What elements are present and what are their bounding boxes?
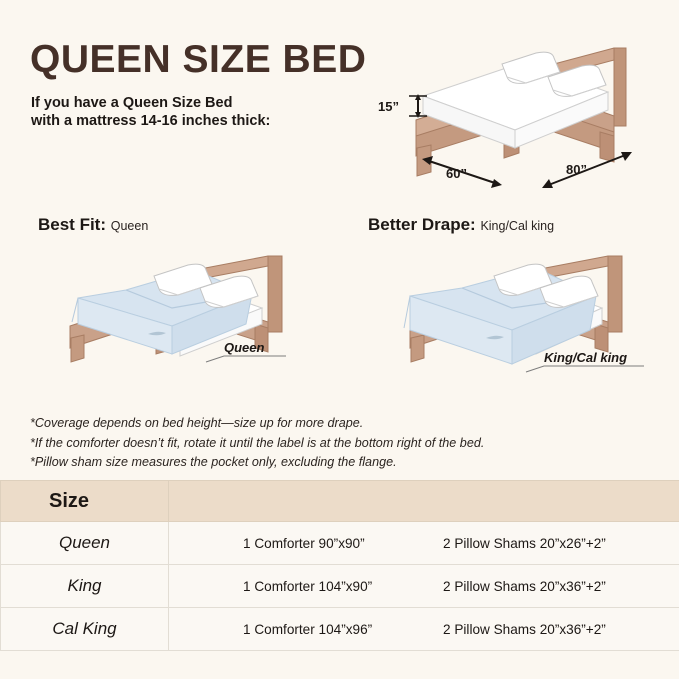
table-body: Queen 1 Comforter 90”x90” 2 Pillow Shams…: [1, 522, 679, 651]
bed-width-label: 60”: [446, 166, 467, 181]
size-table: Size Queen 1 Comforter 90”x90” 2 Pillow …: [0, 480, 679, 651]
best-fit-bed-illustration: Queen: [56, 246, 346, 403]
shams-spec: 2 Pillow Shams 20”x36”+2”: [443, 579, 606, 594]
table-header-row: Size: [1, 481, 679, 522]
comforter-spec: 1 Comforter 104”x90”: [243, 579, 443, 594]
bed-height-label: 15”: [378, 99, 399, 114]
footnote-3: *Pillow sham size measures the pocket on…: [30, 453, 640, 473]
better-drape-bed-illustration: King/Cal king: [396, 246, 674, 403]
better-drape-heading: Better Drape: King/Cal king: [368, 215, 554, 235]
table-header-size: Size: [1, 481, 169, 522]
table-row: Queen 1 Comforter 90”x90” 2 Pillow Shams…: [1, 522, 679, 565]
better-drape-bed-label: King/Cal king: [544, 350, 627, 365]
row-size-king: King: [1, 565, 169, 608]
row-size-cal-king: Cal King: [1, 608, 169, 651]
row-spec-queen: 1 Comforter 90”x90” 2 Pillow Shams 20”x2…: [169, 522, 679, 565]
footnote-2: *If the comforter doesn’t fit, rotate it…: [30, 434, 640, 454]
better-drape-label: Better Drape:: [368, 215, 476, 234]
footnote-1: *Coverage depends on bed height—size up …: [30, 414, 640, 434]
infographic-page: QUEEN SIZE BED If you have a Queen Size …: [0, 0, 679, 679]
page-title: QUEEN SIZE BED: [30, 38, 366, 82]
better-drape-value: King/Cal king: [480, 219, 554, 233]
table-row: King 1 Comforter 104”x90” 2 Pillow Shams…: [1, 565, 679, 608]
page-subtitle: If you have a Queen Size Bed with a matt…: [31, 94, 270, 130]
best-fit-value: Queen: [111, 219, 149, 233]
row-size-queen: Queen: [1, 522, 169, 565]
table-header-spec: [169, 481, 679, 522]
best-fit-bed-label: Queen: [224, 340, 265, 355]
best-fit-heading: Best Fit: Queen: [38, 215, 148, 235]
row-spec-cal-king: 1 Comforter 104”x96” 2 Pillow Shams 20”x…: [169, 608, 679, 651]
shams-spec: 2 Pillow Shams 20”x36”+2”: [443, 622, 606, 637]
shams-spec: 2 Pillow Shams 20”x26”+2”: [443, 536, 606, 551]
comforter-spec: 1 Comforter 104”x96”: [243, 622, 443, 637]
main-bed-diagram: 15” 60” 80”: [376, 28, 676, 215]
table-row: Cal King 1 Comforter 104”x96” 2 Pillow S…: [1, 608, 679, 651]
comforter-spec: 1 Comforter 90”x90”: [243, 536, 443, 551]
footnotes: *Coverage depends on bed height—size up …: [30, 414, 640, 473]
bed-length-label: 80”: [566, 162, 587, 177]
row-spec-king: 1 Comforter 104”x90” 2 Pillow Shams 20”x…: [169, 565, 679, 608]
table-header: Size: [1, 481, 679, 522]
best-fit-label: Best Fit:: [38, 215, 106, 234]
